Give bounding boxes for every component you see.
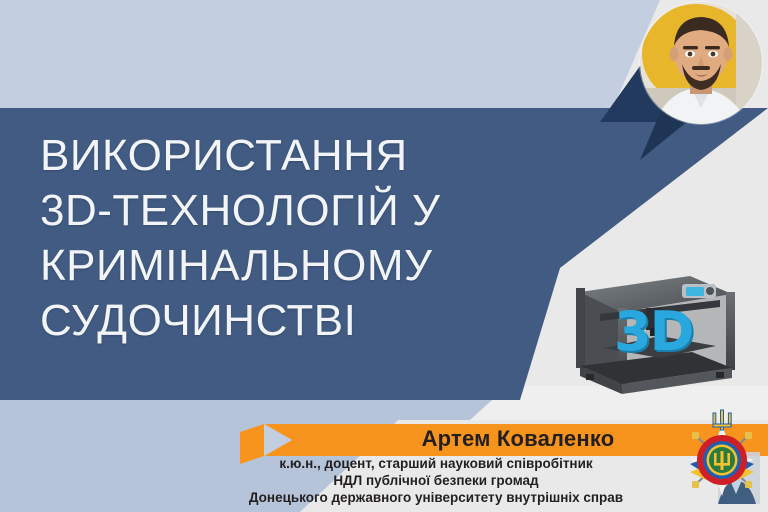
presentation-slide: ВИКОРИСТАННЯ 3D-ТЕХНОЛОГІЙ У КРИМІНАЛЬНО…	[0, 0, 768, 512]
police-university-emblem-icon	[684, 408, 760, 504]
presenter-name: Артем Коваленко	[388, 424, 648, 454]
webcam-avatar[interactable]	[640, 2, 762, 124]
slide-title: ВИКОРИСТАННЯ 3D-ТЕХНОЛОГІЙ У КРИМІНАЛЬНО…	[40, 128, 520, 348]
bottom-left-wedge	[0, 400, 492, 420]
top-light-panel	[0, 0, 660, 110]
presenter-affiliation: к.ю.н., доцент, старший науковий співроб…	[176, 455, 696, 506]
3d-printer-icon	[560, 262, 740, 402]
